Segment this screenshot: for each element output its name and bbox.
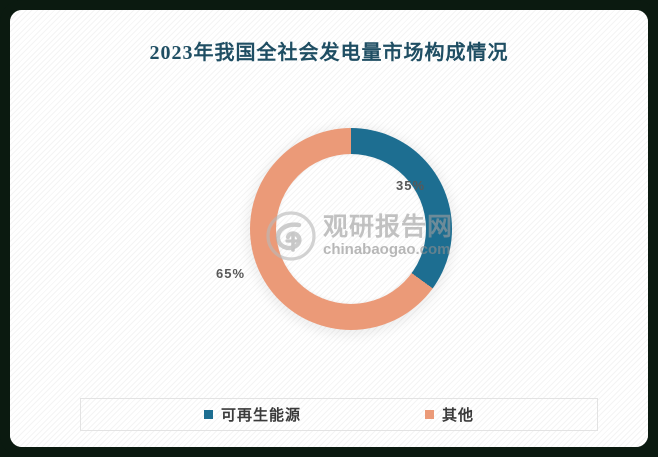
legend-item-0[interactable]: 可再生能源 — [204, 404, 301, 425]
donut-chart: 35% 65% — [250, 128, 452, 330]
legend-label-0: 可再生能源 — [221, 404, 301, 425]
legend-swatch-icon-0 — [204, 410, 213, 419]
chart-canvas: 2023年我国全社会发电量市场构成情况 35% 65% 观研报告网 chinab… — [10, 10, 648, 447]
legend-swatch-icon-1 — [425, 410, 434, 419]
chart-title: 2023年我国全社会发电量市场构成情况 — [10, 36, 648, 65]
legend-item-1[interactable]: 其他 — [425, 404, 474, 425]
slice-value-label-1: 65% — [216, 266, 245, 281]
slice-value-label-0: 35% — [396, 178, 425, 193]
chart-frame: 2023年我国全社会发电量市场构成情况 35% 65% 观研报告网 chinab… — [0, 0, 658, 457]
chart-legend: 可再生能源 其他 — [80, 398, 598, 431]
legend-label-1: 其他 — [442, 404, 474, 425]
donut-center-hole — [276, 154, 426, 304]
